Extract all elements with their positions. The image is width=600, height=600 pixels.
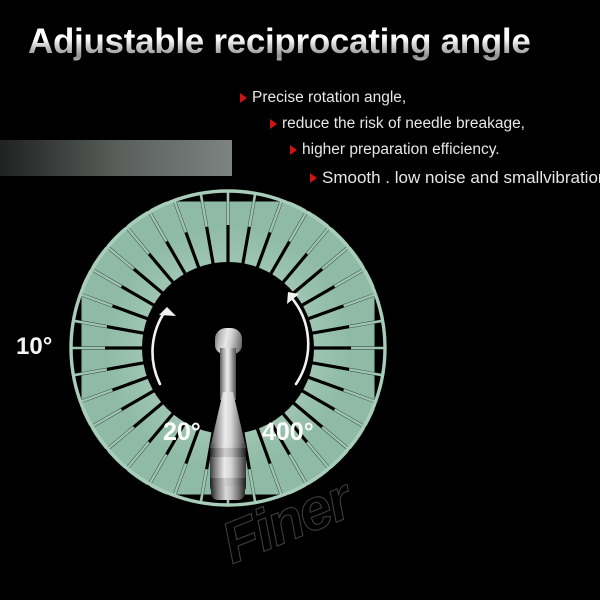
right-angle-label: 400° — [262, 418, 314, 447]
page-title: Adjustable reciprocating angle — [28, 22, 588, 62]
list-item-label: higher preparation efficiency. — [302, 142, 500, 158]
list-item: reduce the risk of needle breakage, — [270, 116, 600, 132]
list-item-label: Smooth . low noise and smallvibration. — [322, 169, 600, 186]
beam-angle-label: 10° — [16, 333, 52, 361]
handpiece-cone — [210, 392, 246, 448]
bullet-triangle-icon — [290, 145, 297, 155]
list-item-label: Precise rotation angle, — [252, 90, 406, 106]
angle-beam — [0, 140, 232, 176]
list-item: higher preparation efficiency. — [290, 142, 600, 158]
feature-bullet-list: Precise rotation angle, reduce the risk … — [240, 90, 600, 186]
bullet-triangle-icon — [270, 119, 277, 129]
list-item: Smooth . low noise and smallvibration. — [310, 169, 600, 186]
bullet-triangle-icon — [240, 93, 247, 103]
product-banner: Adjustable reciprocating angle Adjustabl… — [0, 0, 600, 600]
handpiece-tip — [211, 486, 245, 500]
handpiece-band — [210, 448, 246, 457]
dental-handpiece — [196, 328, 260, 516]
bullet-triangle-icon — [310, 173, 317, 183]
list-item: Precise rotation angle, — [240, 90, 600, 106]
list-item-label: reduce the risk of needle breakage, — [282, 116, 525, 132]
